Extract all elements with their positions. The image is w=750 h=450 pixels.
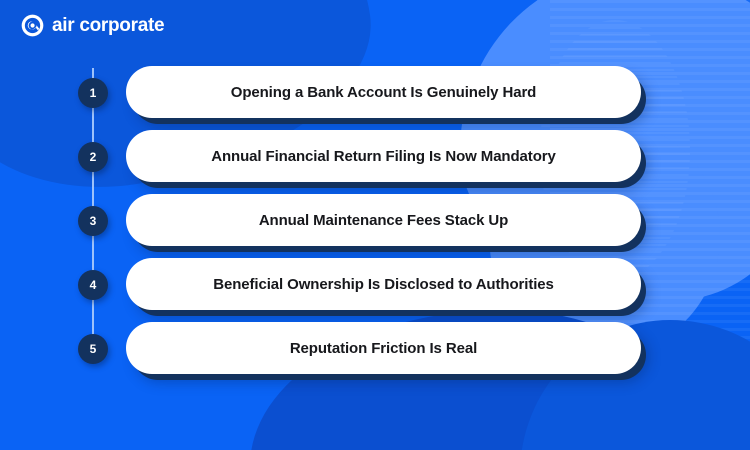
air-corporate-circle-mark-icon: [20, 13, 45, 38]
numbered-list: 1 Opening a Bank Account Is Genuinely Ha…: [0, 60, 750, 380]
list-item-number-badge: 5: [78, 334, 108, 364]
list-item-card[interactable]: Annual Maintenance Fees Stack Up: [126, 194, 641, 246]
list-item-card[interactable]: Reputation Friction Is Real: [126, 322, 641, 374]
list-item-label: Beneficial Ownership Is Disclosed to Aut…: [213, 276, 554, 293]
list-item-card[interactable]: Annual Financial Return Filing Is Now Ma…: [126, 130, 641, 182]
list-item-number-badge: 4: [78, 270, 108, 300]
list-item-label: Annual Maintenance Fees Stack Up: [259, 212, 508, 229]
list-item-number-badge: 1: [78, 78, 108, 108]
list-item-label: Opening a Bank Account Is Genuinely Hard: [231, 84, 537, 101]
list-item: 4 Beneficial Ownership Is Disclosed to A…: [0, 252, 750, 316]
list-item: 2 Annual Financial Return Filing Is Now …: [0, 124, 750, 188]
list-item-label: Reputation Friction Is Real: [290, 340, 477, 357]
list-item-number-badge: 2: [78, 142, 108, 172]
list-item-number-badge: 3: [78, 206, 108, 236]
brand-name: air corporate: [52, 15, 164, 37]
brand-logo[interactable]: air corporate: [20, 13, 164, 38]
list-item: 3 Annual Maintenance Fees Stack Up: [0, 188, 750, 252]
list-item-label: Annual Financial Return Filing Is Now Ma…: [211, 148, 556, 165]
list-item: 1 Opening a Bank Account Is Genuinely Ha…: [0, 60, 750, 124]
list-item-card[interactable]: Beneficial Ownership Is Disclosed to Aut…: [126, 258, 641, 310]
infographic-canvas: air corporate 1 Opening a Bank Account I…: [0, 0, 750, 450]
list-item: 5 Reputation Friction Is Real: [0, 316, 750, 380]
list-item-card[interactable]: Opening a Bank Account Is Genuinely Hard: [126, 66, 641, 118]
